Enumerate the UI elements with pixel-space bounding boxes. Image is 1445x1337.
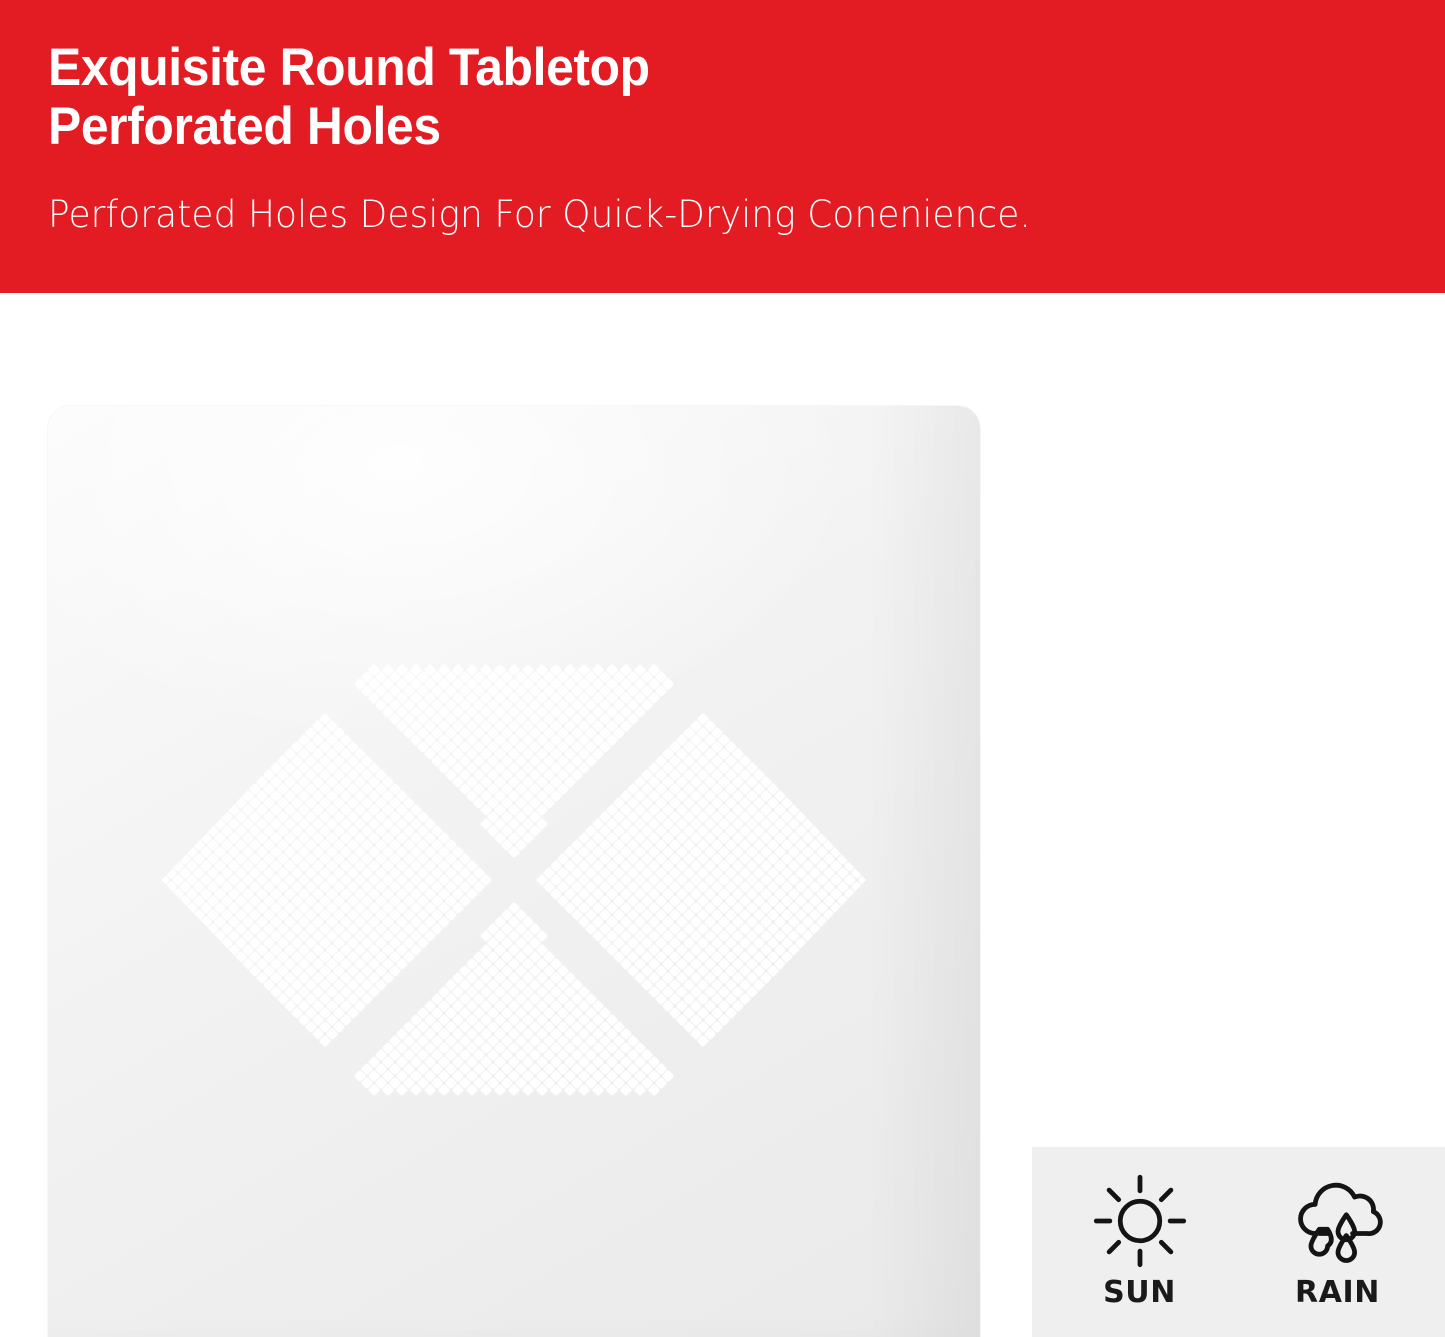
rain-cloud-icon [1286, 1169, 1390, 1273]
sun-icon [1088, 1169, 1192, 1273]
page-title: Exquisite Round Tabletop Perforated Hole… [48, 38, 1316, 157]
banner-subtitle: Perforated Holes Design For Quick-Drying… [48, 157, 1357, 237]
badge-label-rain: RAIN [1295, 1275, 1380, 1310]
perforation-hole-pattern [48, 406, 980, 1337]
badge-item-rain: RAIN [1268, 1169, 1408, 1310]
header-banner: Exquisite Round Tabletop Perforated Hole… [0, 0, 1445, 293]
badge-label-sun: SUN [1103, 1275, 1176, 1310]
weather-resistance-badge: SUN RAIN [1032, 1147, 1445, 1337]
perforated-tabletop-panel [48, 406, 980, 1337]
badge-item-sun: SUN [1070, 1169, 1210, 1310]
